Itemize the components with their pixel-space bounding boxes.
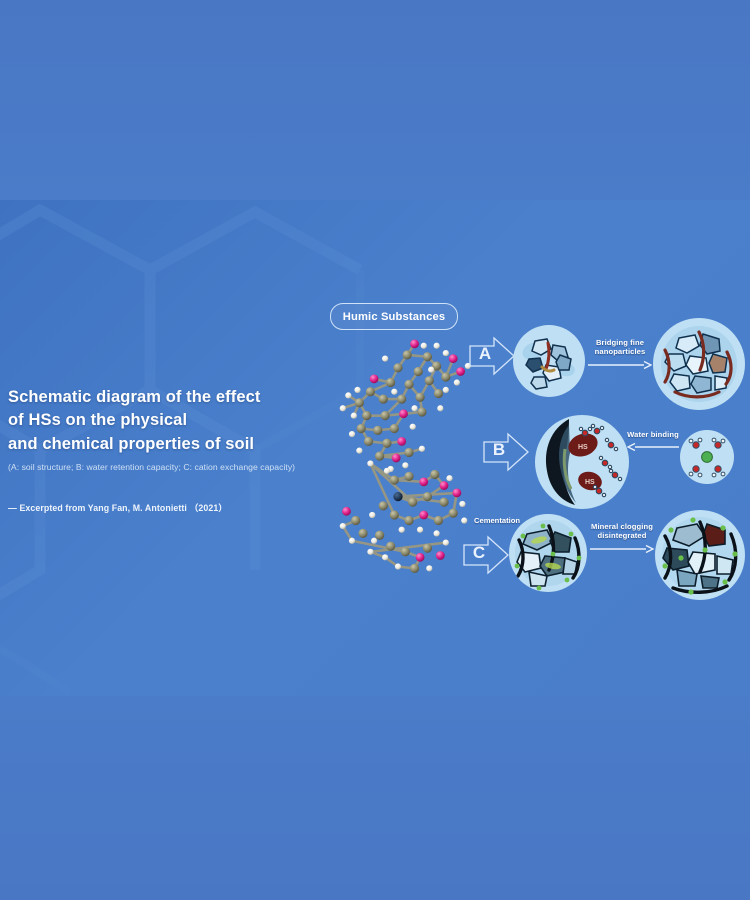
row-b-flow: Water binding [625, 430, 681, 452]
arrow-right-icon [590, 544, 654, 554]
row-b-letter: B [486, 440, 512, 460]
hydrated-cation-cluster-illustration [680, 430, 734, 484]
row-b-right-circle [680, 430, 734, 484]
row-a-flow: Bridging fine nanoparticles [586, 338, 654, 370]
arrow-right-icon [588, 360, 652, 370]
figure-canvas: Schematic diagram of the effect of HSs o… [0, 0, 750, 900]
row-a-caption: Bridging fine nanoparticles [586, 338, 654, 357]
row-c-left-circle [509, 514, 587, 592]
row-a-left-circle [513, 325, 585, 397]
row-a-letter: A [472, 344, 498, 364]
row-c-flow: Mineral clogging disintegrated [588, 522, 656, 554]
humic-water-complex-illustration: HS HS [535, 415, 629, 509]
row-b-caption: Water binding [625, 430, 681, 439]
attribution-line: — Excerpted from Yang Fan, M. Antonietti… [8, 501, 348, 514]
background-band-bottom [0, 696, 750, 900]
humic-substances-label-text: Humic Substances [343, 311, 446, 323]
bridged-soil-aggregate-illustration [653, 318, 745, 410]
loose-soil-aggregate-illustration [513, 325, 585, 397]
svg-text:HS: HS [578, 444, 588, 451]
arrow-left-icon [627, 442, 679, 452]
row-a-right-circle [653, 318, 745, 410]
page-title: Schematic diagram of the effect of HSs o… [8, 386, 348, 456]
svg-text:HS: HS [585, 479, 595, 486]
row-b-left-circle: HS HS [535, 415, 629, 509]
caption-block: Schematic diagram of the effect of HSs o… [8, 386, 348, 514]
row-c-letter: C [466, 543, 492, 563]
disintegrated-mineral-aggregate-illustration [655, 510, 745, 600]
row-c-right-circle [655, 510, 745, 600]
row-c-caption: Mineral clogging disintegrated [588, 522, 656, 541]
figure-subtitle: (A: soil structure; B: water retention c… [8, 462, 348, 473]
background-band-top [0, 0, 750, 200]
cemented-mineral-aggregate-illustration [509, 514, 587, 592]
